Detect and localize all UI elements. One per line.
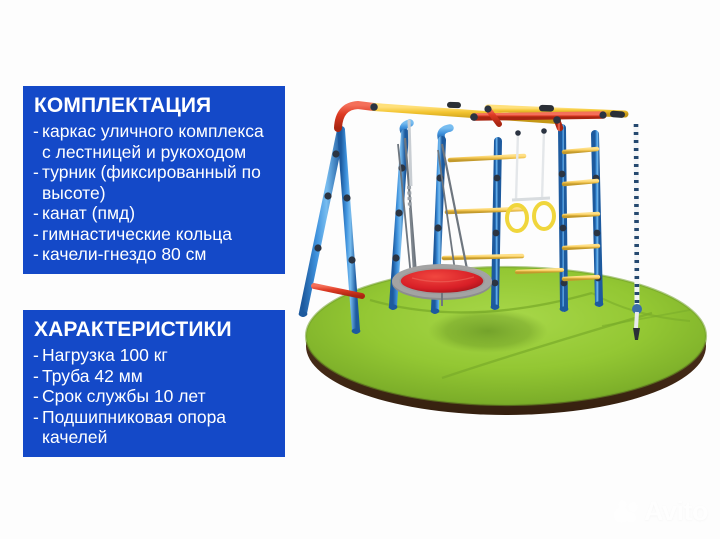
list-item: - Труба 42 мм [33,366,275,387]
kit-item-text: гимнастические кольца [42,224,275,245]
kit-info-panel: КОМПЛЕКТАЦИЯ - каркас уличного комплекса… [23,86,285,274]
gymnastic-rings [507,128,554,231]
list-item: - каркас уличного комплекса с лестницей … [33,121,275,162]
specs-info-panel: ХАРАКТЕРИСТИКИ - Нагрузка 100 кг - Труба… [23,310,285,457]
list-item: - качели-гнездо 80 см [33,244,275,265]
bullet-dash-icon: - [33,407,42,428]
top-beam-structure [338,102,625,128]
specs-panel-title: ХАРАКТЕРИСТИКИ [34,317,275,343]
bullet-dash-icon: - [33,162,42,183]
kit-item-text: каркас уличного комплекса с лестницей и … [42,121,275,162]
bullet-dash-icon: - [33,345,42,366]
bullet-dash-icon: - [33,366,42,387]
list-item: - Подшипниковая опора качелей [33,407,275,448]
list-item: - канат (пмд) [33,203,275,224]
kit-item-list: - каркас уличного комплекса с лестницей … [33,121,275,265]
kit-item-text: турник (фиксированный по высоте) [42,162,275,203]
bullet-dash-icon: - [33,244,42,265]
list-item: - Срок службы 10 лет [33,386,275,407]
list-item: - гимнастические кольца [33,224,275,245]
grass-base-group [306,267,706,415]
a-frame-leg-left [303,130,362,330]
bullet-dash-icon: - [33,121,42,142]
specs-item-text: Труба 42 мм [42,366,275,387]
kit-item-text: канат (пмд) [42,203,275,224]
kit-panel-title: КОМПЛЕКТАЦИЯ [34,93,275,119]
list-item: - турник (фиксированный по высоте) [33,162,275,203]
avito-logo-icon [613,500,639,524]
kit-item-text: качели-гнездо 80 см [42,244,275,265]
specs-item-text: Срок службы 10 лет [42,386,275,407]
climbing-rope [632,124,642,340]
avito-watermark-text: Avito [644,498,708,525]
product-illustration [292,78,720,422]
specs-item-list: - Нагрузка 100 кг - Труба 42 мм - Срок с… [33,345,275,448]
avito-watermark: Avito [613,498,708,525]
specs-item-text: Подшипниковая опора качелей [42,407,275,448]
bullet-dash-icon: - [33,224,42,245]
bullet-dash-icon: - [33,203,42,224]
poster-canvas: КОМПЛЕКТАЦИЯ - каркас уличного комплекса… [0,0,720,539]
climbing-ladder [517,149,598,279]
bullet-dash-icon: - [33,386,42,407]
specs-item-text: Нагрузка 100 кг [42,345,275,366]
list-item: - Нагрузка 100 кг [33,345,275,366]
